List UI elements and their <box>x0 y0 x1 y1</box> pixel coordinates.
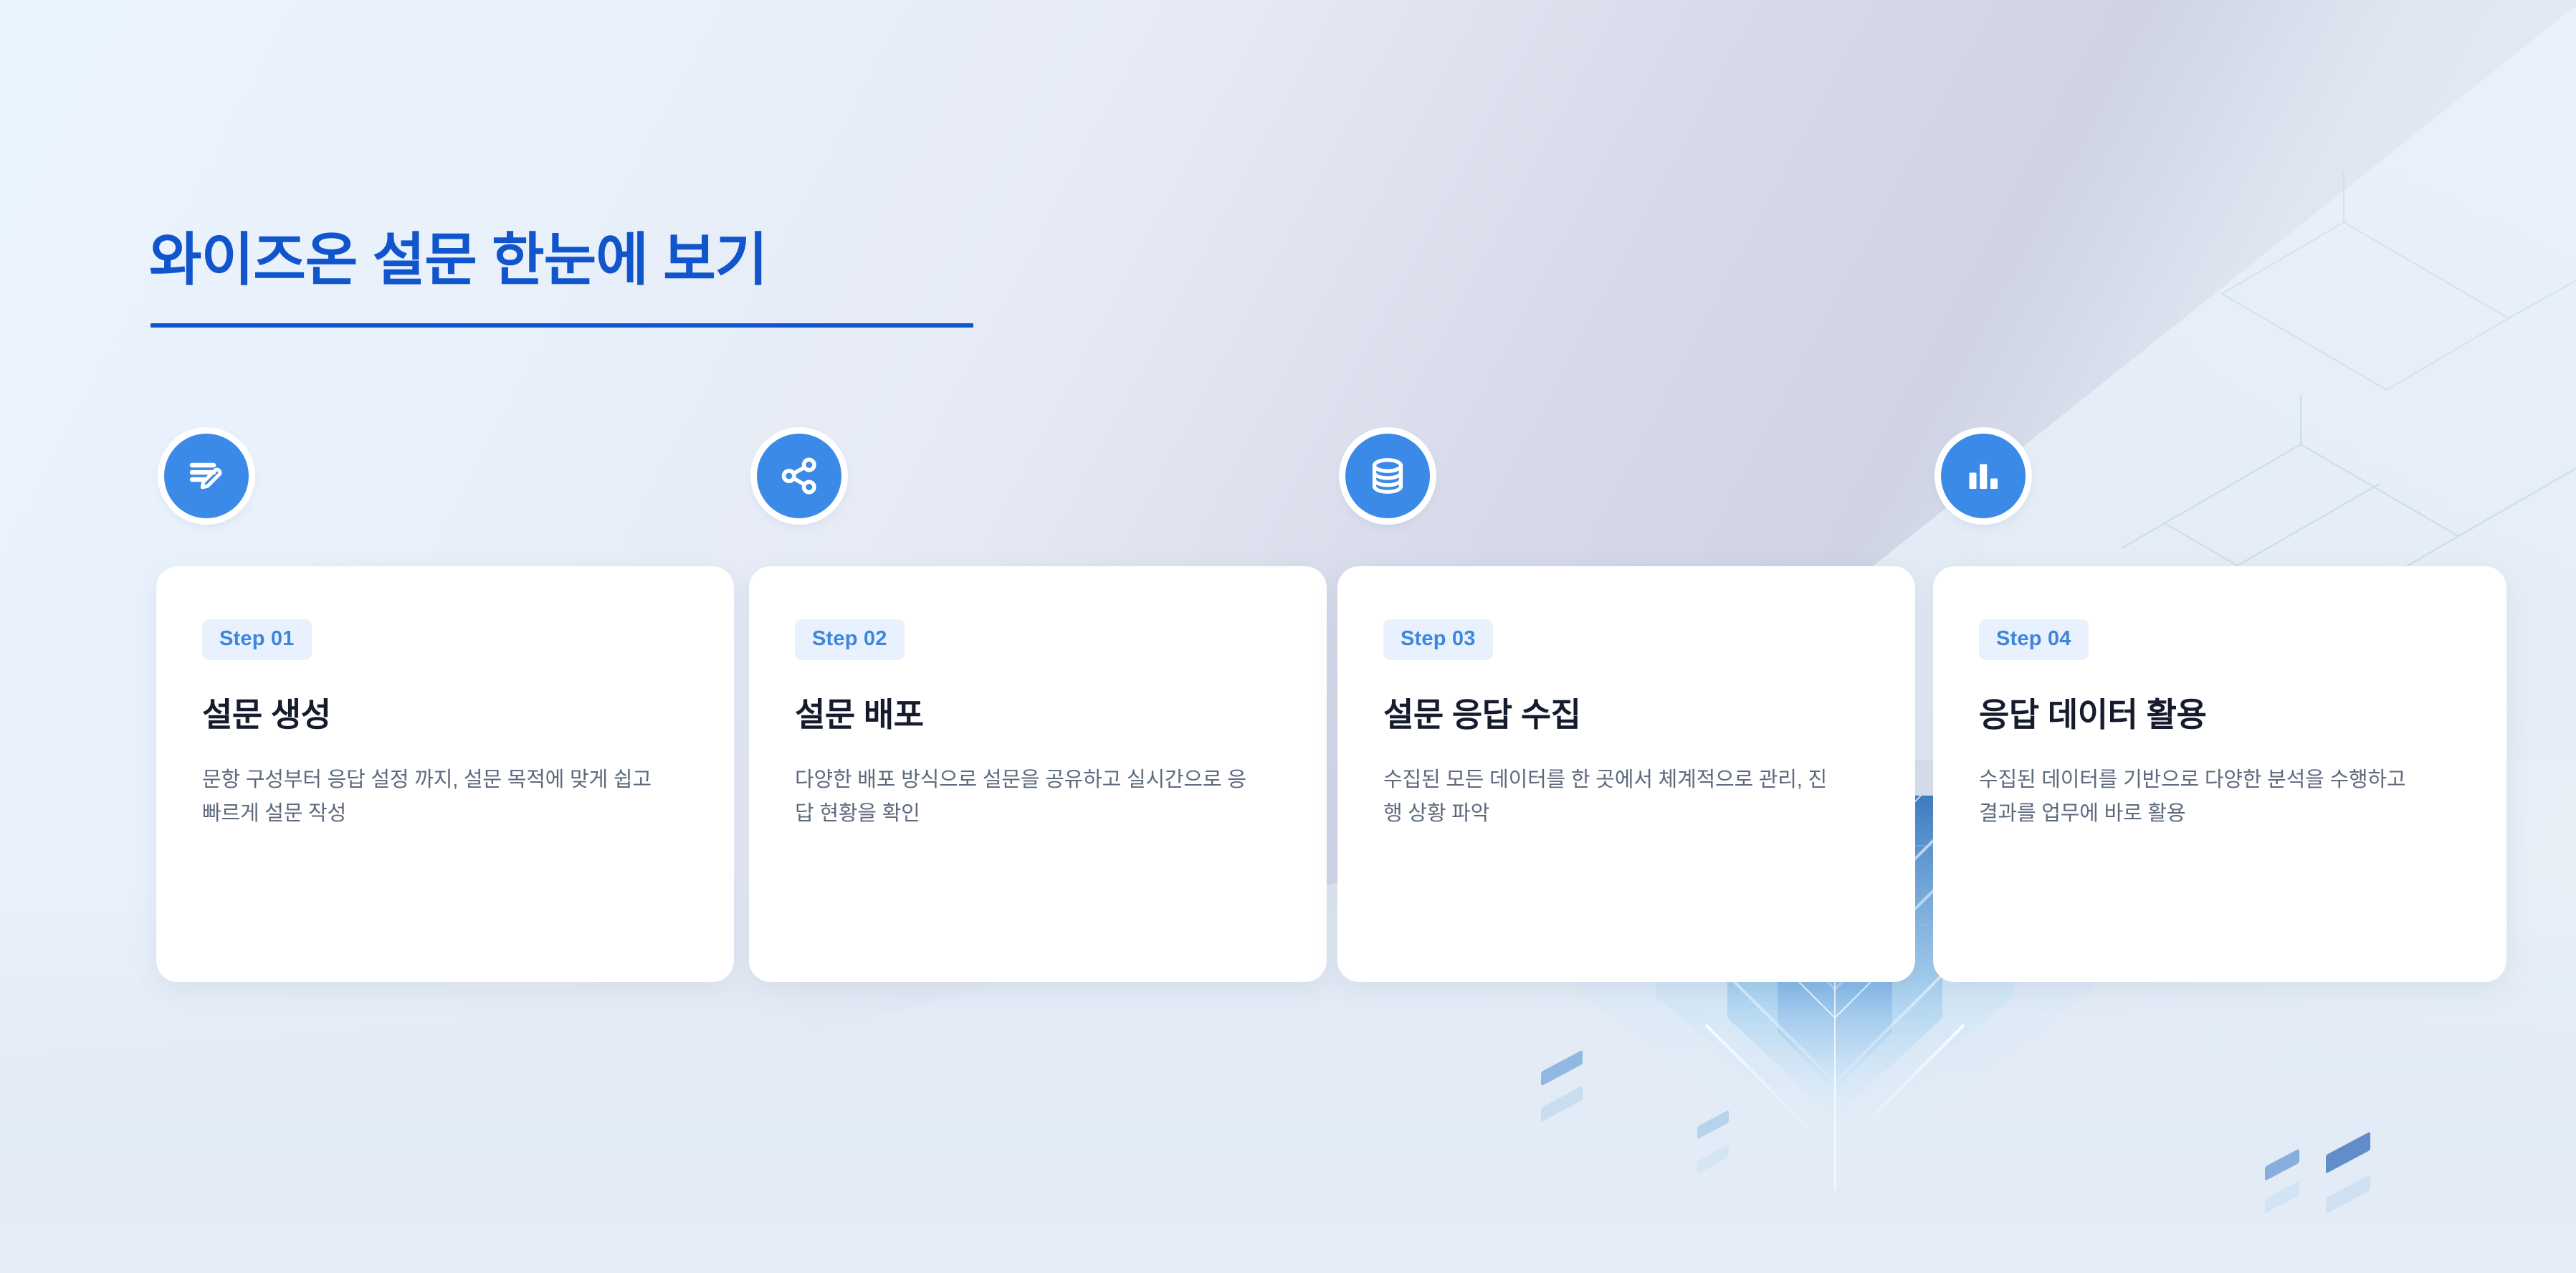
step-badge-1: Step 01 <box>202 619 312 660</box>
step-card-4[interactable]: Step 04 응답 데이터 활용 수집된 데이터를 기반으로 다양한 분석을 … <box>1933 566 2506 982</box>
document-edit-icon <box>164 434 249 518</box>
step-description-3: 수집된 모든 데이터를 한 곳에서 체계적으로 관리, 진행 상황 파악 <box>1383 763 1842 831</box>
step-title-2: 설문 배포 <box>795 689 1292 736</box>
card-surface-1: Step 01 설문 생성 문항 구성부터 응답 설정 까지, 설문 목적에 맞… <box>156 566 734 982</box>
card-surface-3: Step 03 설문 응답 수집 수집된 모든 데이터를 한 곳에서 체계적으로… <box>1337 566 1915 982</box>
step-description-4: 수집된 데이터를 기반으로 다양한 분석을 수행하고 결과를 업무에 바로 활용 <box>1979 763 2423 831</box>
step-title-3: 설문 응답 수집 <box>1383 689 1881 736</box>
card-surface-2: Step 02 설문 배포 다양한 배포 방식으로 설문을 공유하고 실시간으로… <box>749 566 1327 982</box>
step-card-1[interactable]: Step 01 설문 생성 문항 구성부터 응답 설정 까지, 설문 목적에 맞… <box>156 566 734 982</box>
database-icon <box>1345 434 1430 518</box>
page-root: 와이즈온 설문 한눈에 보기 Step 01 설문 생성 문항 구성부터 응답 … <box>0 0 2576 1273</box>
page-title: 와이즈온 설문 한눈에 보기 <box>149 229 767 292</box>
step-badge-3: Step 03 <box>1383 619 1493 660</box>
step-card-3[interactable]: Step 03 설문 응답 수집 수집된 모든 데이터를 한 곳에서 체계적으로… <box>1337 566 1915 982</box>
card-surface-4: Step 04 응답 데이터 활용 수집된 데이터를 기반으로 다양한 분석을 … <box>1933 566 2506 982</box>
page-title-underline <box>151 323 973 328</box>
step-title-4: 응답 데이터 활용 <box>1979 689 2472 736</box>
step-description-1: 문항 구성부터 응답 설정 까지, 설문 목적에 맞게 쉽고 빠르게 설문 작성 <box>202 763 661 831</box>
content-layer: 와이즈온 설문 한눈에 보기 Step 01 설문 생성 문항 구성부터 응답 … <box>0 0 2576 1273</box>
step-badge-4: Step 04 <box>1979 619 2089 660</box>
step-badge-2: Step 02 <box>795 619 905 660</box>
step-description-2: 다양한 배포 방식으로 설문을 공유하고 실시간으로 응답 현황을 확인 <box>795 763 1254 831</box>
step-title-1: 설문 생성 <box>202 689 700 736</box>
step-card-2[interactable]: Step 02 설문 배포 다양한 배포 방식으로 설문을 공유하고 실시간으로… <box>749 566 1327 982</box>
bar-chart-icon <box>1941 434 2026 518</box>
share-icon <box>757 434 841 518</box>
